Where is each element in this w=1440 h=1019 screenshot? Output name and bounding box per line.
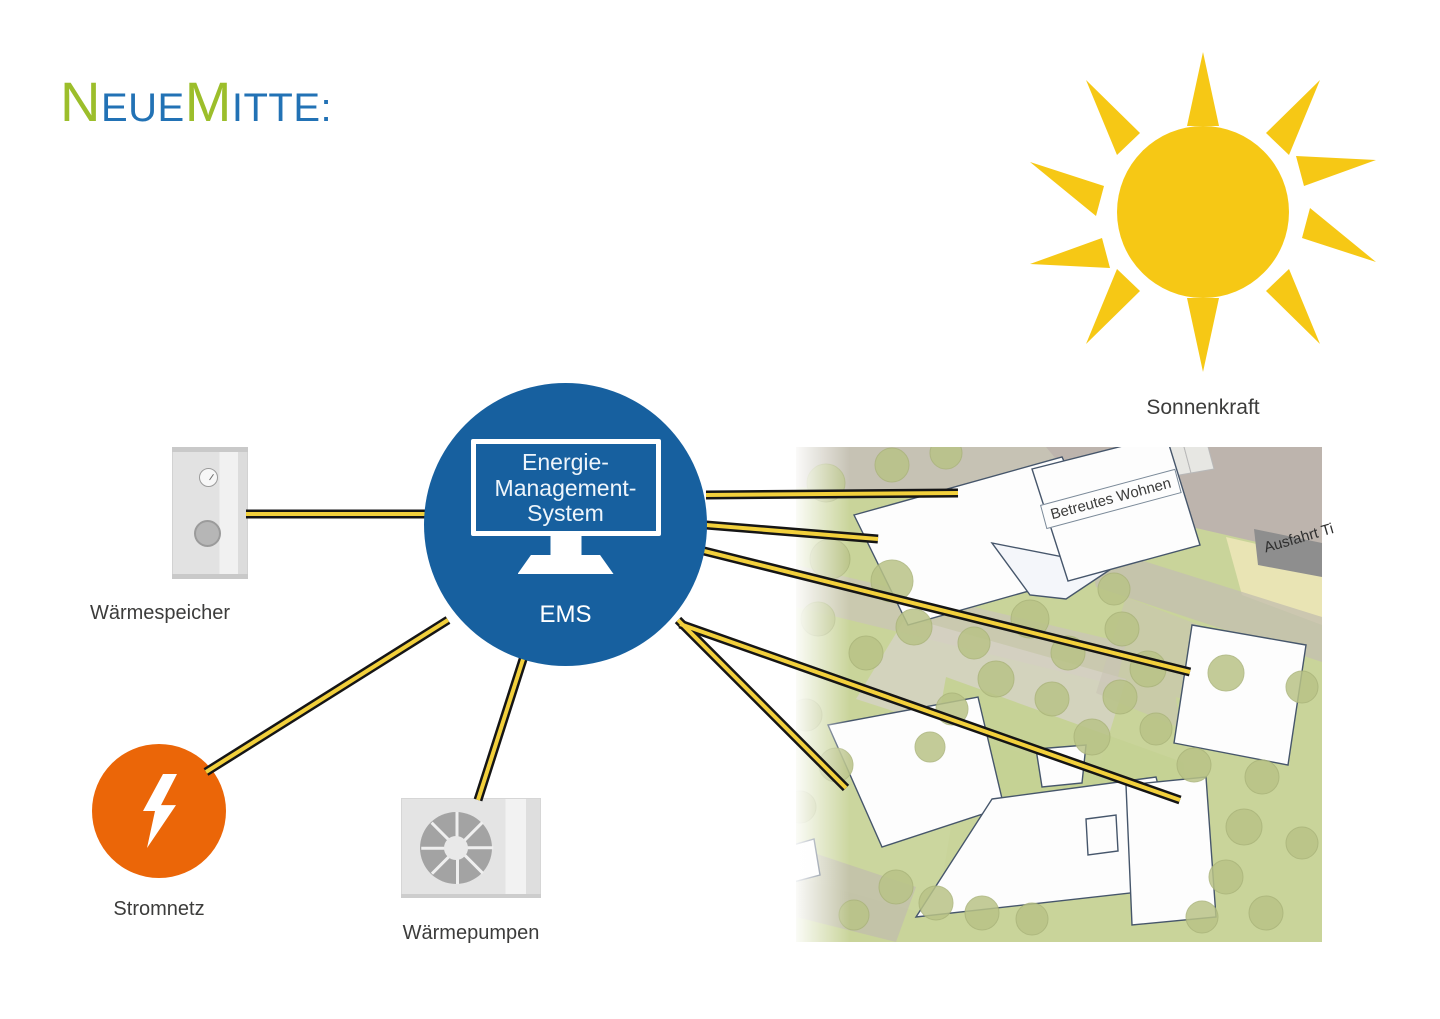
monitor-base xyxy=(518,555,614,574)
heat-storage-top-cap xyxy=(172,447,248,452)
ems-node[interactable]: Energie- Management- System EMS xyxy=(424,383,707,666)
sun-label: Sonnenkraft xyxy=(1022,396,1384,420)
heat-storage-body xyxy=(172,447,248,579)
monitor-icon: Energie- Management- System xyxy=(471,439,661,536)
heat-pump-bottom-edge xyxy=(401,894,541,898)
heat-storage-bottom-cap xyxy=(172,574,248,579)
heat-storage-icon[interactable] xyxy=(172,447,248,579)
energy-system-diagram: NEUEMITTE: Sonnenkraft xyxy=(0,0,1440,1019)
heat-storage-label: Wärmespeicher xyxy=(60,602,260,625)
ems-monitor-text: Energie- Management- System xyxy=(495,449,637,527)
sun-icon xyxy=(1022,52,1384,382)
brand-logo-part-2: M xyxy=(185,70,232,133)
heat-pump-label: Wärmepumpen xyxy=(371,922,571,945)
brand-logo: NEUEMITTE: xyxy=(60,74,332,130)
fan-hub xyxy=(444,836,468,860)
lightning-bolt-icon xyxy=(134,774,184,848)
heat-pump-icon[interactable] xyxy=(401,798,541,898)
brand-logo-part-3: ITTE: xyxy=(232,86,332,130)
brand-logo-part-1: EUE xyxy=(101,86,185,130)
power-grid-label: Stromnetz xyxy=(59,898,259,921)
ems-caption: EMS xyxy=(424,601,707,629)
monitor-neck xyxy=(550,536,581,557)
heat-pump-fan-icon xyxy=(420,812,492,884)
brand-logo-part-0: N xyxy=(60,70,101,133)
heat-storage-port xyxy=(194,520,221,547)
gauge-icon xyxy=(199,468,218,487)
power-grid-node[interactable] xyxy=(92,744,226,878)
